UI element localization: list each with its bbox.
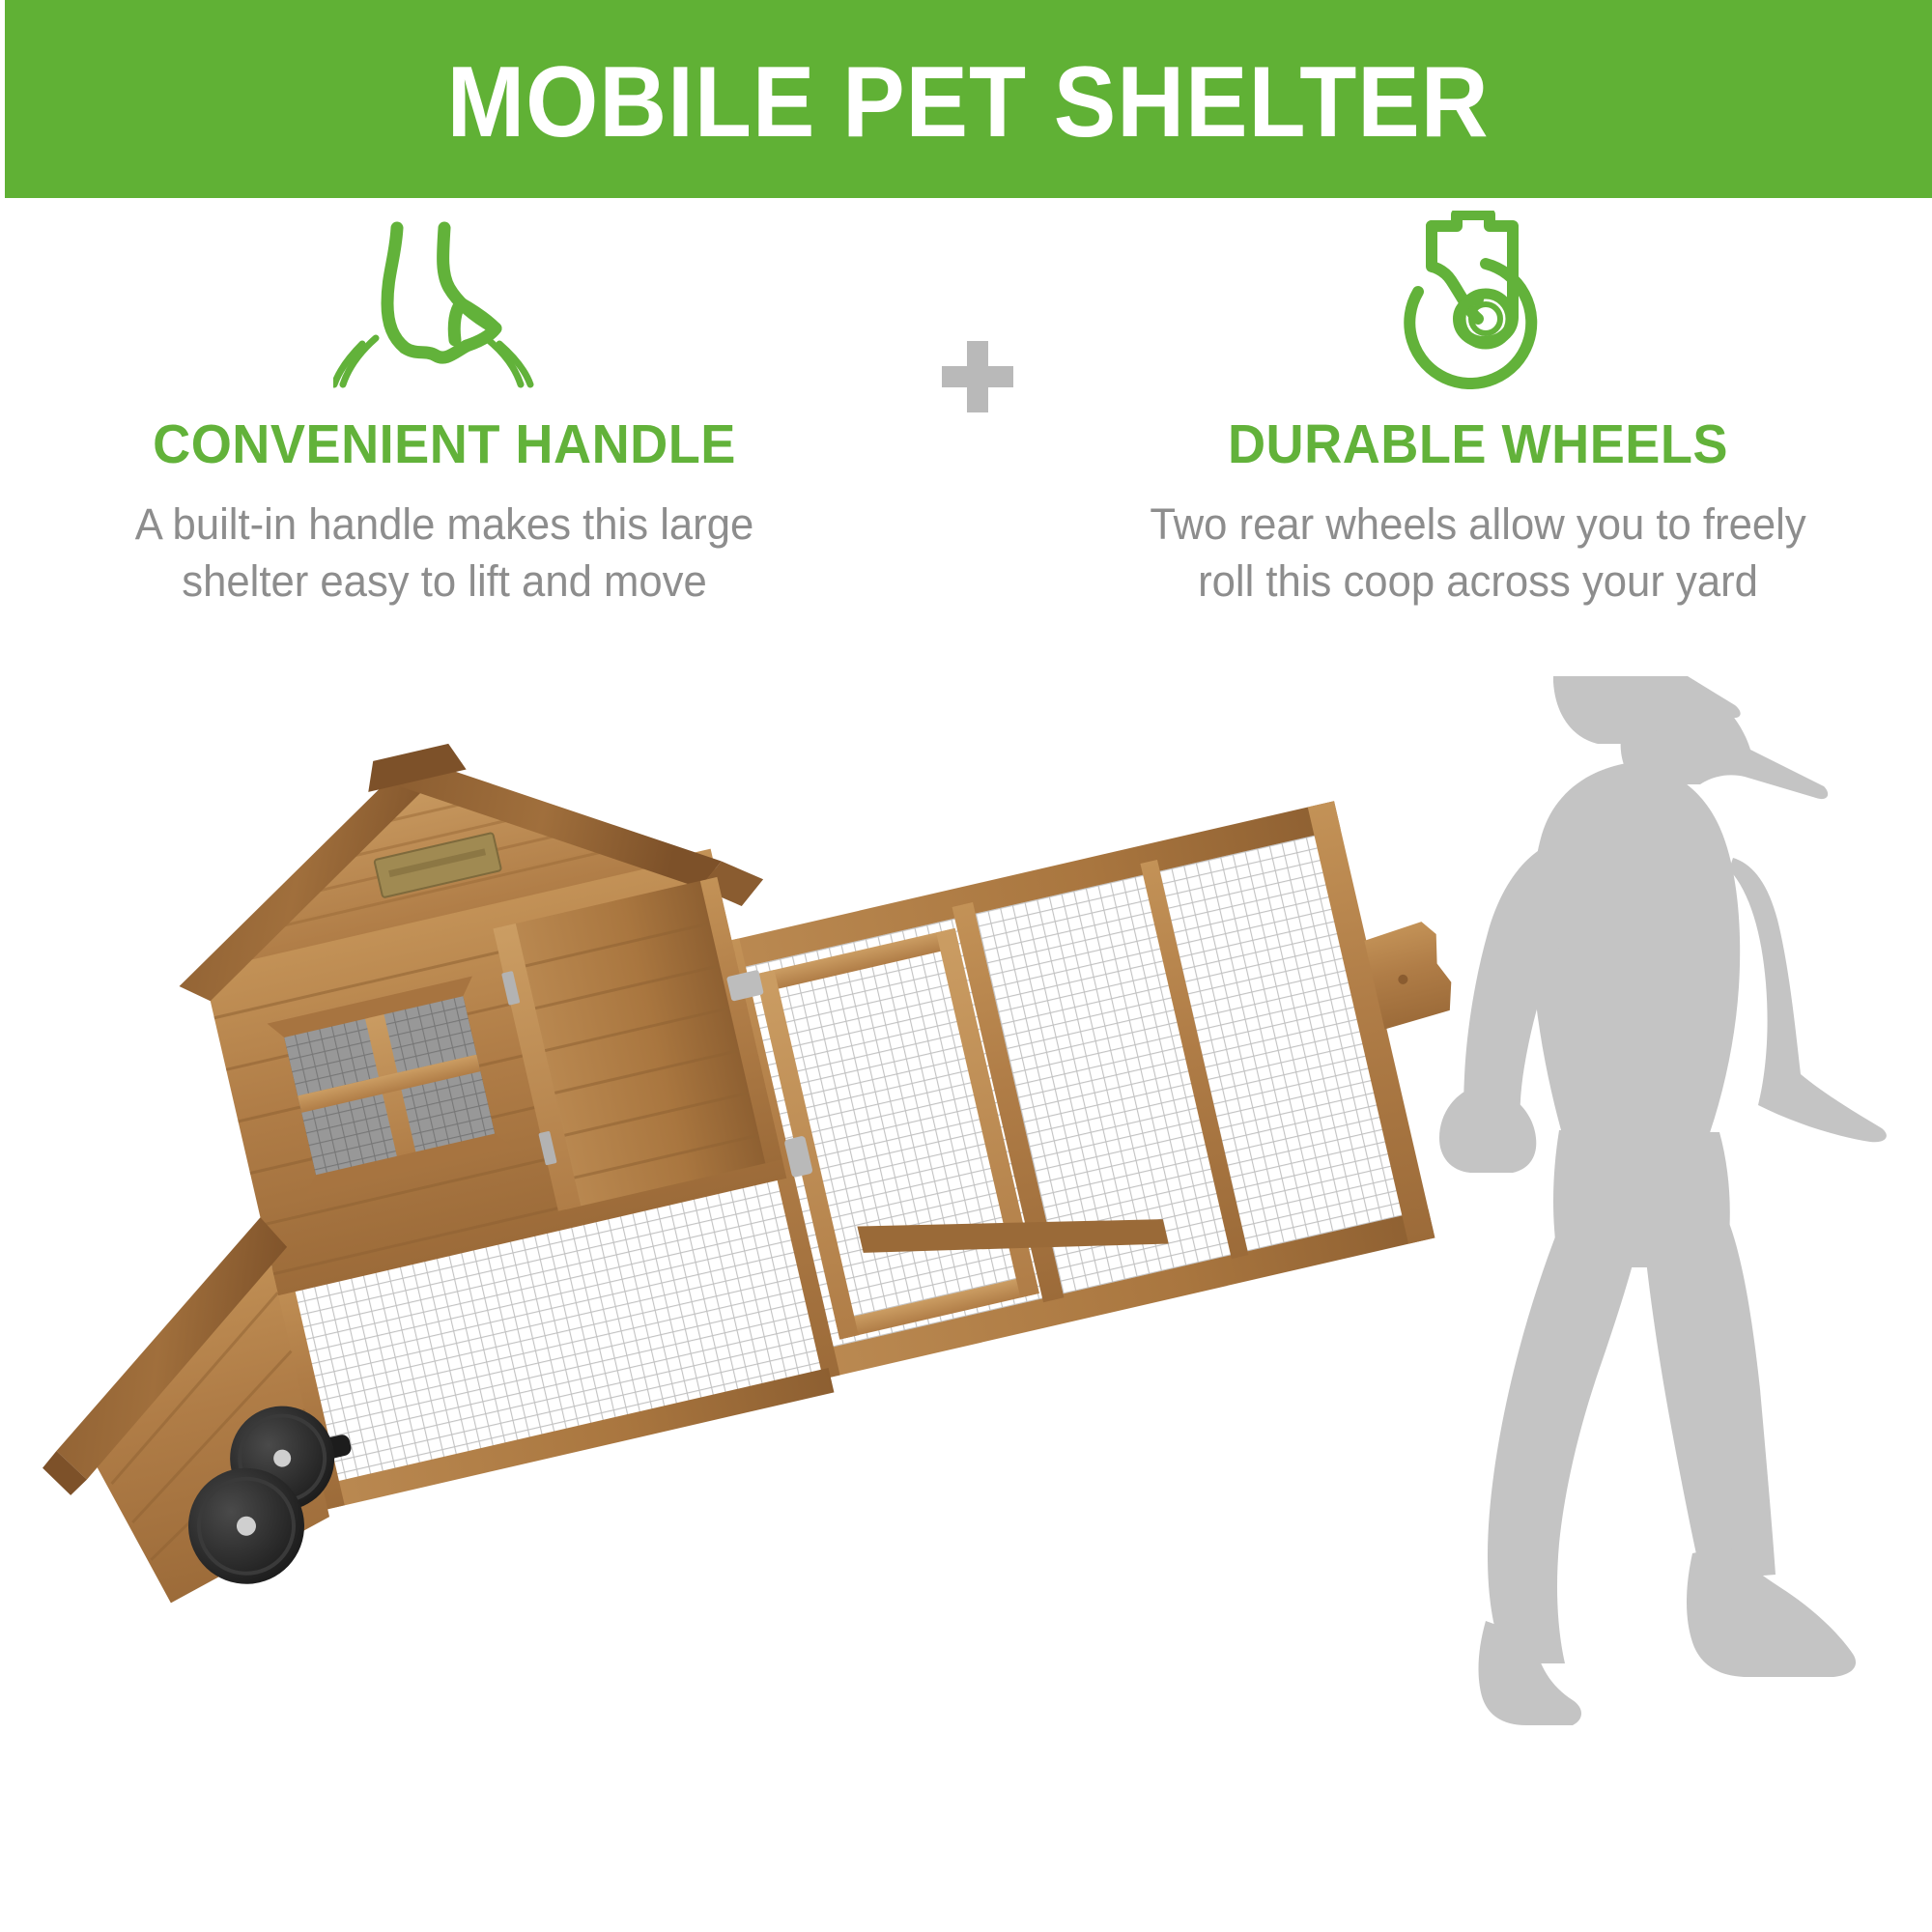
coop-run-enclosure xyxy=(713,784,1507,1381)
caster-wheel-icon xyxy=(1053,208,1903,391)
product-photo-illustration xyxy=(0,676,1932,1932)
person-silhouette xyxy=(1439,676,1887,1725)
page-title: MOBILE PET SHELTER xyxy=(447,52,1490,153)
feature-heading: DURABLE WHEELS xyxy=(1074,412,1882,476)
feature-body: Two rear wheels allow you to freely roll… xyxy=(1065,496,1890,611)
feature-convenient-handle: CONVENIENT HANDLE A built-in handle make… xyxy=(19,198,869,611)
hand-grip-handle-icon xyxy=(19,208,869,391)
feature-body-line-2: roll this coop across your yard xyxy=(1065,553,1890,610)
chicken-coop xyxy=(0,676,1522,1624)
feature-body: A built-in handle makes this large shelt… xyxy=(32,496,857,611)
feature-body-line-1: A built-in handle makes this large xyxy=(32,496,857,553)
feature-body-line-2: shelter easy to lift and move xyxy=(32,553,857,610)
feature-heading: CONVENIENT HANDLE xyxy=(41,412,848,476)
product-photo xyxy=(0,676,1932,1932)
plus-icon-vertical-bar xyxy=(967,341,988,412)
feature-row: CONVENIENT HANDLE A built-in handle make… xyxy=(0,198,1932,671)
feature-durable-wheels: DURABLE WHEELS Two rear wheels allow you… xyxy=(1053,198,1903,611)
plus-icon xyxy=(942,341,1013,412)
header-banner: MOBILE PET SHELTER xyxy=(5,0,1932,198)
feature-body-line-1: Two rear wheels allow you to freely xyxy=(1065,496,1890,553)
